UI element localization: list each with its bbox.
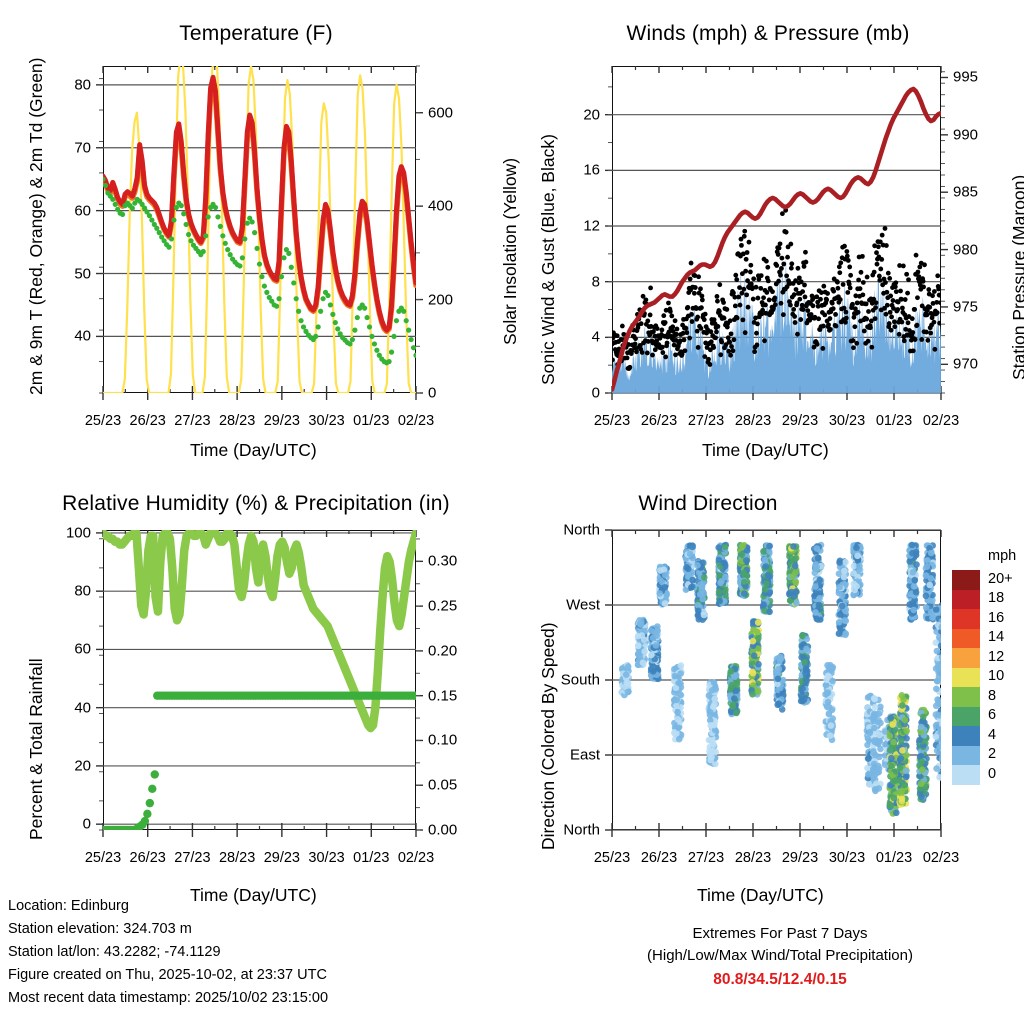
x-tick-label: 25/23 bbox=[85, 413, 121, 429]
y-tick-label: 80 bbox=[74, 583, 91, 600]
wind-direction-panel: Wind Direction Direction (Colored By Spe… bbox=[512, 470, 1024, 910]
colorbar-swatch bbox=[952, 648, 980, 668]
colorbar-tick-label: 8 bbox=[988, 688, 996, 704]
x-tick-label: 01/23 bbox=[876, 850, 912, 866]
location-line: Location: Edinburg bbox=[8, 898, 129, 914]
y2-tick-label: 0.05 bbox=[428, 777, 457, 794]
x-tick-label: 01/23 bbox=[876, 413, 912, 429]
y2-tick-label: 600 bbox=[428, 104, 453, 121]
y2-tick-label: 970 bbox=[953, 356, 978, 373]
x-tick-label: 25/23 bbox=[85, 850, 121, 866]
y2-tick-label: 990 bbox=[953, 126, 978, 143]
x-tick-label: 29/23 bbox=[782, 850, 818, 866]
y2-tick-label: 0.20 bbox=[428, 642, 457, 659]
colorbar-tick-label: 6 bbox=[988, 707, 996, 723]
latlon-line: Station lat/lon: 43.2282; -74.1129 bbox=[8, 944, 221, 960]
elevation-line: Station elevation: 324.703 m bbox=[8, 921, 192, 937]
colorbar-swatch bbox=[952, 629, 980, 649]
x-tick-label: 30/23 bbox=[829, 413, 865, 429]
x-tick-label: 27/23 bbox=[174, 850, 210, 866]
colorbar-tick-label: 18 bbox=[988, 590, 1004, 606]
y-tick-label: 40 bbox=[74, 328, 91, 345]
x-tick-label: 25/23 bbox=[594, 413, 630, 429]
x-tick-label: 29/23 bbox=[264, 850, 300, 866]
x-tick-label: 28/23 bbox=[219, 413, 255, 429]
y-tick-label: 0 bbox=[592, 385, 600, 402]
colorbar-tick-label: 20+ bbox=[988, 571, 1013, 587]
x-tick-label: 28/23 bbox=[735, 850, 771, 866]
colorbar-swatch bbox=[952, 590, 980, 610]
y-tick-label: West bbox=[566, 597, 600, 614]
x-tick-label: 29/23 bbox=[264, 413, 300, 429]
colorbar-tick-label: 16 bbox=[988, 610, 1004, 626]
y2-tick-label: 200 bbox=[428, 291, 453, 308]
colorbar-swatch bbox=[952, 707, 980, 727]
x-tick-label: 01/23 bbox=[353, 413, 389, 429]
figure-created-line: Figure created on Thu, 2025-10-02, at 23… bbox=[8, 967, 327, 983]
x-tick-label: 02/23 bbox=[923, 413, 959, 429]
x-tick-label: 26/23 bbox=[130, 850, 166, 866]
winds-plot-canvas bbox=[512, 0, 1024, 470]
y-tick-label: 20 bbox=[74, 757, 91, 774]
x-tick-label: 01/23 bbox=[353, 850, 389, 866]
y2-tick-label: 0.30 bbox=[428, 553, 457, 570]
y2-tick-label: 980 bbox=[953, 241, 978, 258]
y2-tick-label: 985 bbox=[953, 184, 978, 201]
x-tick-label: 27/23 bbox=[174, 413, 210, 429]
x-tick-label: 02/23 bbox=[923, 850, 959, 866]
x-tick-label: 02/23 bbox=[398, 413, 434, 429]
extremes-subtitle: (High/Low/Max Wind/Total Precipitation) bbox=[560, 947, 1000, 964]
colorbar-swatch bbox=[952, 726, 980, 746]
x-tick-label: 30/23 bbox=[308, 413, 344, 429]
winds-pressure-panel: Winds (mph) & Pressure (mb) Sonic Wind &… bbox=[512, 0, 1024, 470]
colorbar-swatch bbox=[952, 746, 980, 766]
colorbar-tick-label: 14 bbox=[988, 629, 1004, 645]
y-tick-label: 12 bbox=[583, 218, 600, 235]
x-tick-label: 26/23 bbox=[641, 850, 677, 866]
colorbar-swatch bbox=[952, 668, 980, 688]
y-tick-label: 60 bbox=[74, 641, 91, 658]
colorbar-unit-label: mph bbox=[988, 548, 1016, 564]
y-tick-label: 60 bbox=[74, 202, 91, 219]
y-tick-label: 20 bbox=[583, 106, 600, 123]
x-tick-label: 26/23 bbox=[130, 413, 166, 429]
x-tick-label: 30/23 bbox=[308, 850, 344, 866]
y2-tick-label: 0.00 bbox=[428, 822, 457, 839]
x-tick-label: 29/23 bbox=[782, 413, 818, 429]
y-tick-label: 70 bbox=[74, 139, 91, 156]
x-tick-label: 27/23 bbox=[688, 413, 724, 429]
y-tick-label: North bbox=[563, 522, 600, 539]
colorbar-tick-label: 4 bbox=[988, 727, 996, 743]
y-tick-label: 40 bbox=[74, 699, 91, 716]
x-tick-label: 25/23 bbox=[594, 850, 630, 866]
y2-tick-label: 0 bbox=[428, 385, 436, 402]
y-tick-label: South bbox=[561, 672, 600, 689]
x-tick-label: 27/23 bbox=[688, 850, 724, 866]
y-tick-label: 0 bbox=[83, 816, 91, 833]
colorbar-tick-label: 12 bbox=[988, 649, 1004, 665]
data-timestamp-line: Most recent data timestamp: 2025/10/02 2… bbox=[8, 990, 328, 1006]
colorbar-swatch bbox=[952, 765, 980, 785]
y2-tick-label: 0.25 bbox=[428, 598, 457, 615]
colorbar-swatch bbox=[952, 570, 980, 590]
extremes-title: Extremes For Past 7 Days bbox=[560, 925, 1000, 942]
x-tick-label: 28/23 bbox=[735, 413, 771, 429]
x-tick-label: 26/23 bbox=[641, 413, 677, 429]
y-tick-label: 8 bbox=[592, 273, 600, 290]
temperature-panel: Temperature (F) 2m & 9m T (Red, Orange) … bbox=[0, 0, 512, 470]
x-tick-label: 28/23 bbox=[219, 850, 255, 866]
y-tick-label: 100 bbox=[66, 524, 91, 541]
colorbar-tick-label: 0 bbox=[988, 766, 996, 782]
y-tick-label: East bbox=[570, 747, 600, 764]
y2-tick-label: 995 bbox=[953, 69, 978, 86]
colorbar-swatch bbox=[952, 687, 980, 707]
colorbar-swatch bbox=[952, 609, 980, 629]
colorbar-tick-label: 2 bbox=[988, 746, 996, 762]
x-tick-label: 02/23 bbox=[398, 850, 434, 866]
y-tick-label: 50 bbox=[74, 265, 91, 282]
y-tick-label: 4 bbox=[592, 329, 600, 346]
y-tick-label: 80 bbox=[74, 76, 91, 93]
extremes-value: 80.8/34.5/12.4/0.15 bbox=[560, 971, 1000, 989]
y2-tick-label: 0.15 bbox=[428, 687, 457, 704]
x-tick-label: 30/23 bbox=[829, 850, 865, 866]
y2-tick-label: 975 bbox=[953, 298, 978, 315]
y-tick-label: 16 bbox=[583, 162, 600, 179]
y2-tick-label: 0.10 bbox=[428, 732, 457, 749]
humidity-precip-panel: Relative Humidity (%) & Precipitation (i… bbox=[0, 470, 512, 910]
colorbar-tick-label: 10 bbox=[988, 668, 1004, 684]
y-tick-label: North bbox=[563, 822, 600, 839]
y2-tick-label: 400 bbox=[428, 198, 453, 215]
